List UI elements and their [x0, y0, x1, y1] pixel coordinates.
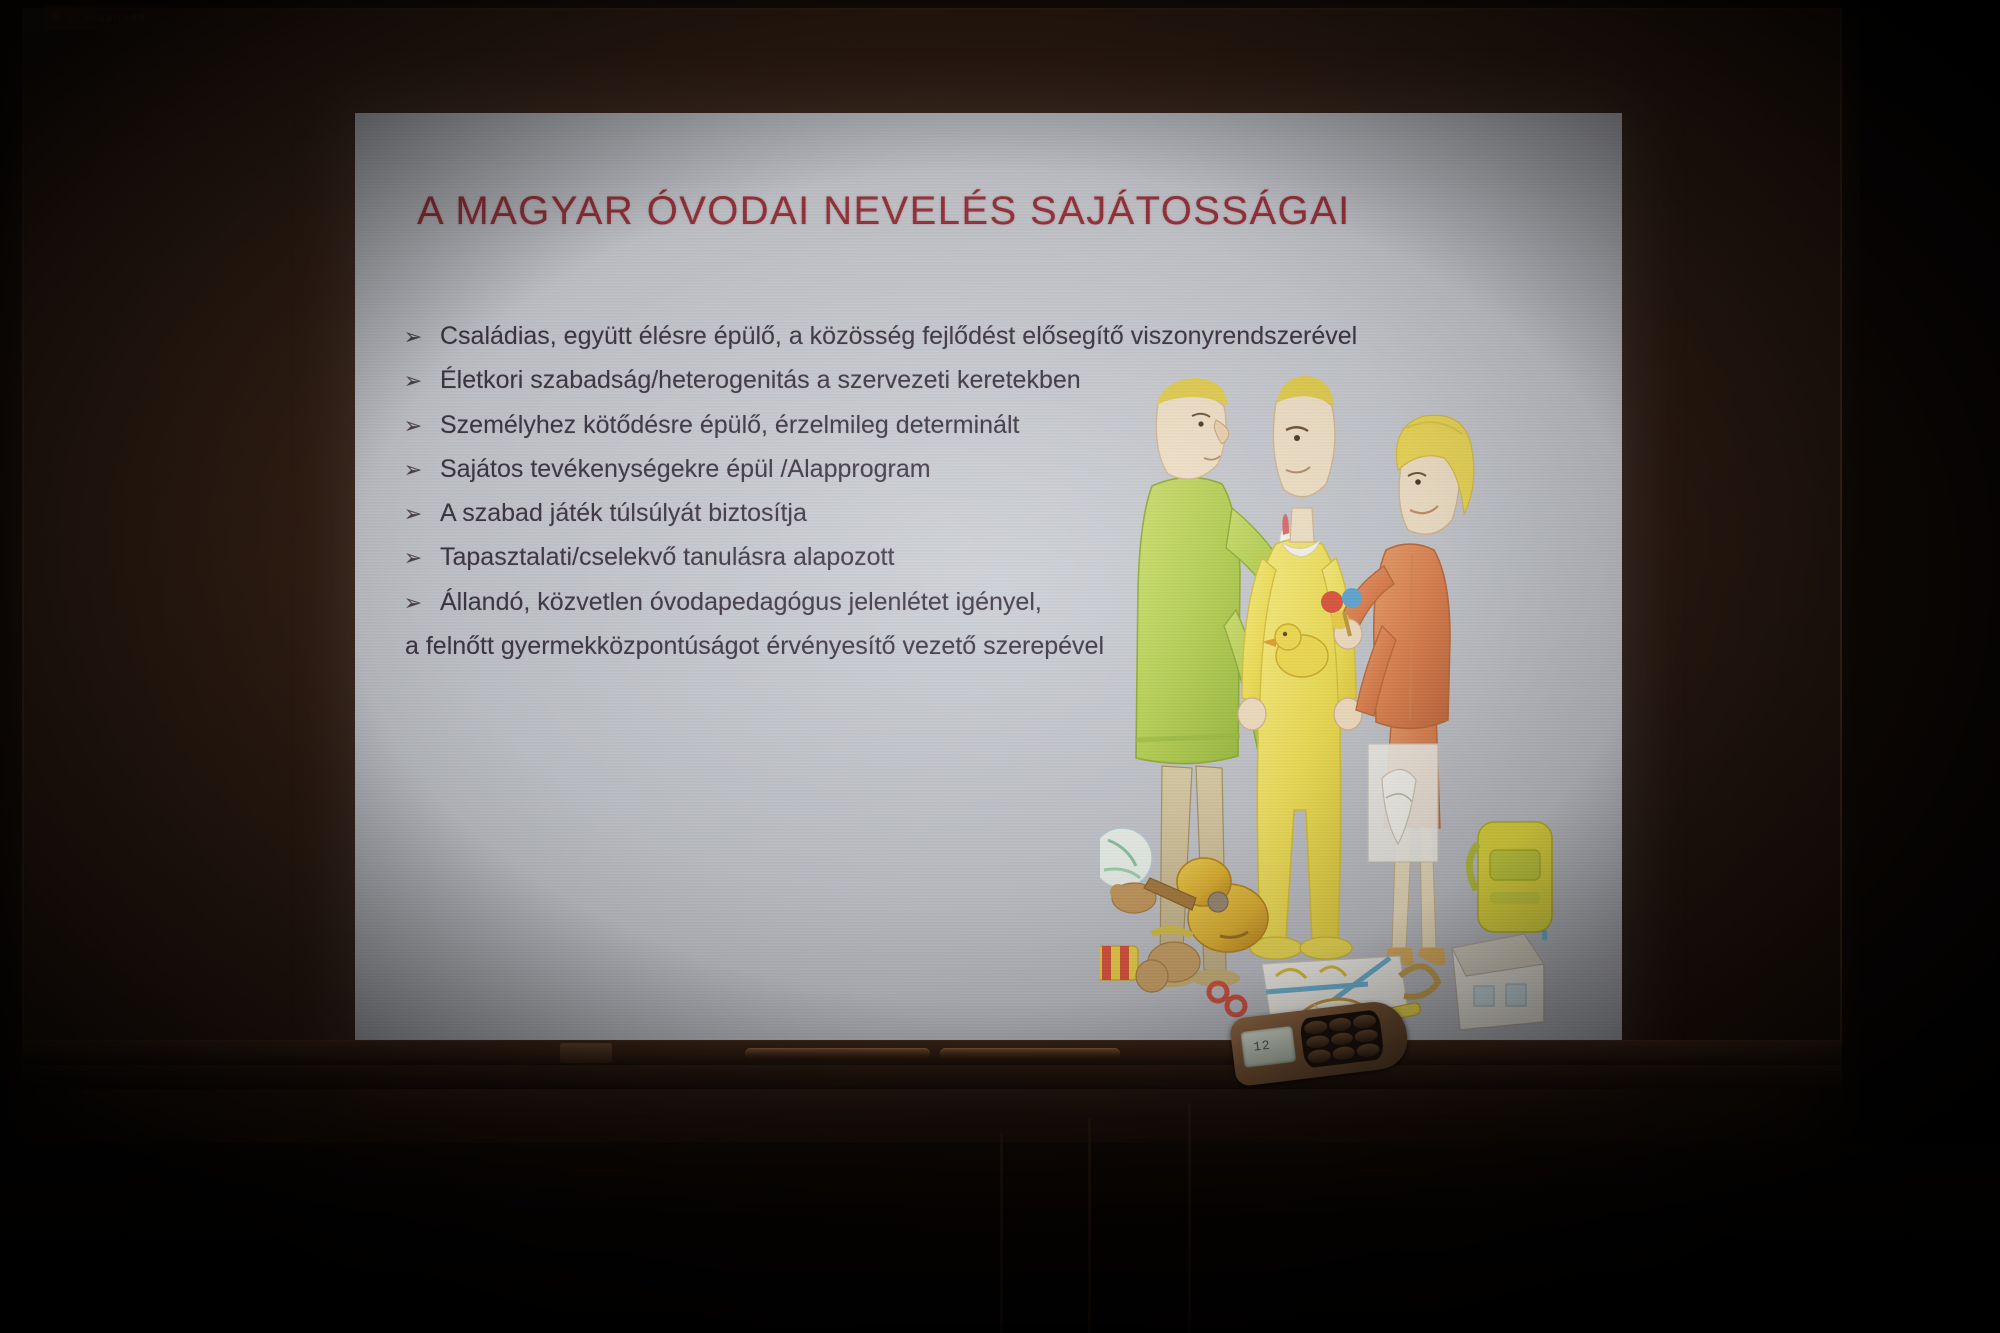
keypad-key[interactable]	[1354, 1028, 1378, 1043]
cable-3	[1188, 1103, 1191, 1333]
whiteboard-eraser[interactable]	[560, 1043, 612, 1063]
handset-keypad[interactable]	[1299, 1009, 1384, 1068]
arrow-bullet-icon: ➢	[403, 588, 423, 618]
projected-slide: A MAGYAR ÓVODAI NEVELÉS SAJÁTOSSÁGAI ➢ C…	[355, 113, 1622, 1063]
keypad-key[interactable]	[1332, 1046, 1356, 1061]
toy-drum	[1100, 946, 1138, 980]
arrow-bullet-icon: ➢	[403, 366, 423, 396]
keypad-key[interactable]	[1353, 1014, 1377, 1029]
keypad-key[interactable]	[1307, 1049, 1331, 1064]
kindergarten-handover-illustration	[1100, 358, 1560, 1038]
keypad-key[interactable]	[1305, 1034, 1329, 1049]
logo-mark-icon	[51, 12, 64, 25]
stylus-pen-1[interactable]	[745, 1048, 930, 1059]
photo-canvas: CLASSBOARD A MAGYAR ÓVODAI NEVELÉS SAJÁT…	[0, 0, 2000, 1333]
arrow-bullet-icon: ➢	[403, 455, 423, 485]
illustration-shoe-bag	[1368, 744, 1438, 862]
device-logo-text: CLASSBOARD	[69, 14, 146, 23]
keypad-key[interactable]	[1304, 1020, 1328, 1035]
cable-1	[1000, 1133, 1003, 1333]
toy-house	[1452, 918, 1545, 1030]
interactive-whiteboard: CLASSBOARD A MAGYAR ÓVODAI NEVELÉS SAJÁT…	[0, 0, 1860, 1185]
list-item: ➢ Családias, együtt élésre épülő, a közö…	[403, 321, 1283, 352]
pen-tray-lip	[22, 1065, 1842, 1089]
illustration-child-figure	[1238, 376, 1362, 959]
toy-ball	[1100, 828, 1152, 888]
arrow-bullet-icon: ➢	[403, 543, 423, 573]
keypad-key[interactable]	[1356, 1043, 1380, 1058]
stylus-pen-2[interactable]	[940, 1048, 1120, 1059]
cable-2	[1088, 1118, 1091, 1333]
list-item-label: Családias, együtt élésre épülő, a közöss…	[440, 321, 1357, 352]
arrow-bullet-icon: ➢	[403, 499, 423, 529]
toy-backpack	[1469, 822, 1552, 932]
keypad-key[interactable]	[1328, 1017, 1352, 1032]
arrow-bullet-icon: ➢	[403, 322, 423, 352]
keypad-key[interactable]	[1330, 1031, 1354, 1046]
handset-display-text: 12	[1252, 1038, 1271, 1055]
device-logo: CLASSBOARD	[45, 6, 172, 30]
arrow-bullet-icon: ➢	[403, 411, 423, 441]
handset-display: 12	[1240, 1026, 1296, 1068]
slide-title: A MAGYAR ÓVODAI NEVELÉS SAJÁTOSSÁGAI	[417, 189, 1417, 234]
pen-tray	[22, 1040, 1842, 1067]
